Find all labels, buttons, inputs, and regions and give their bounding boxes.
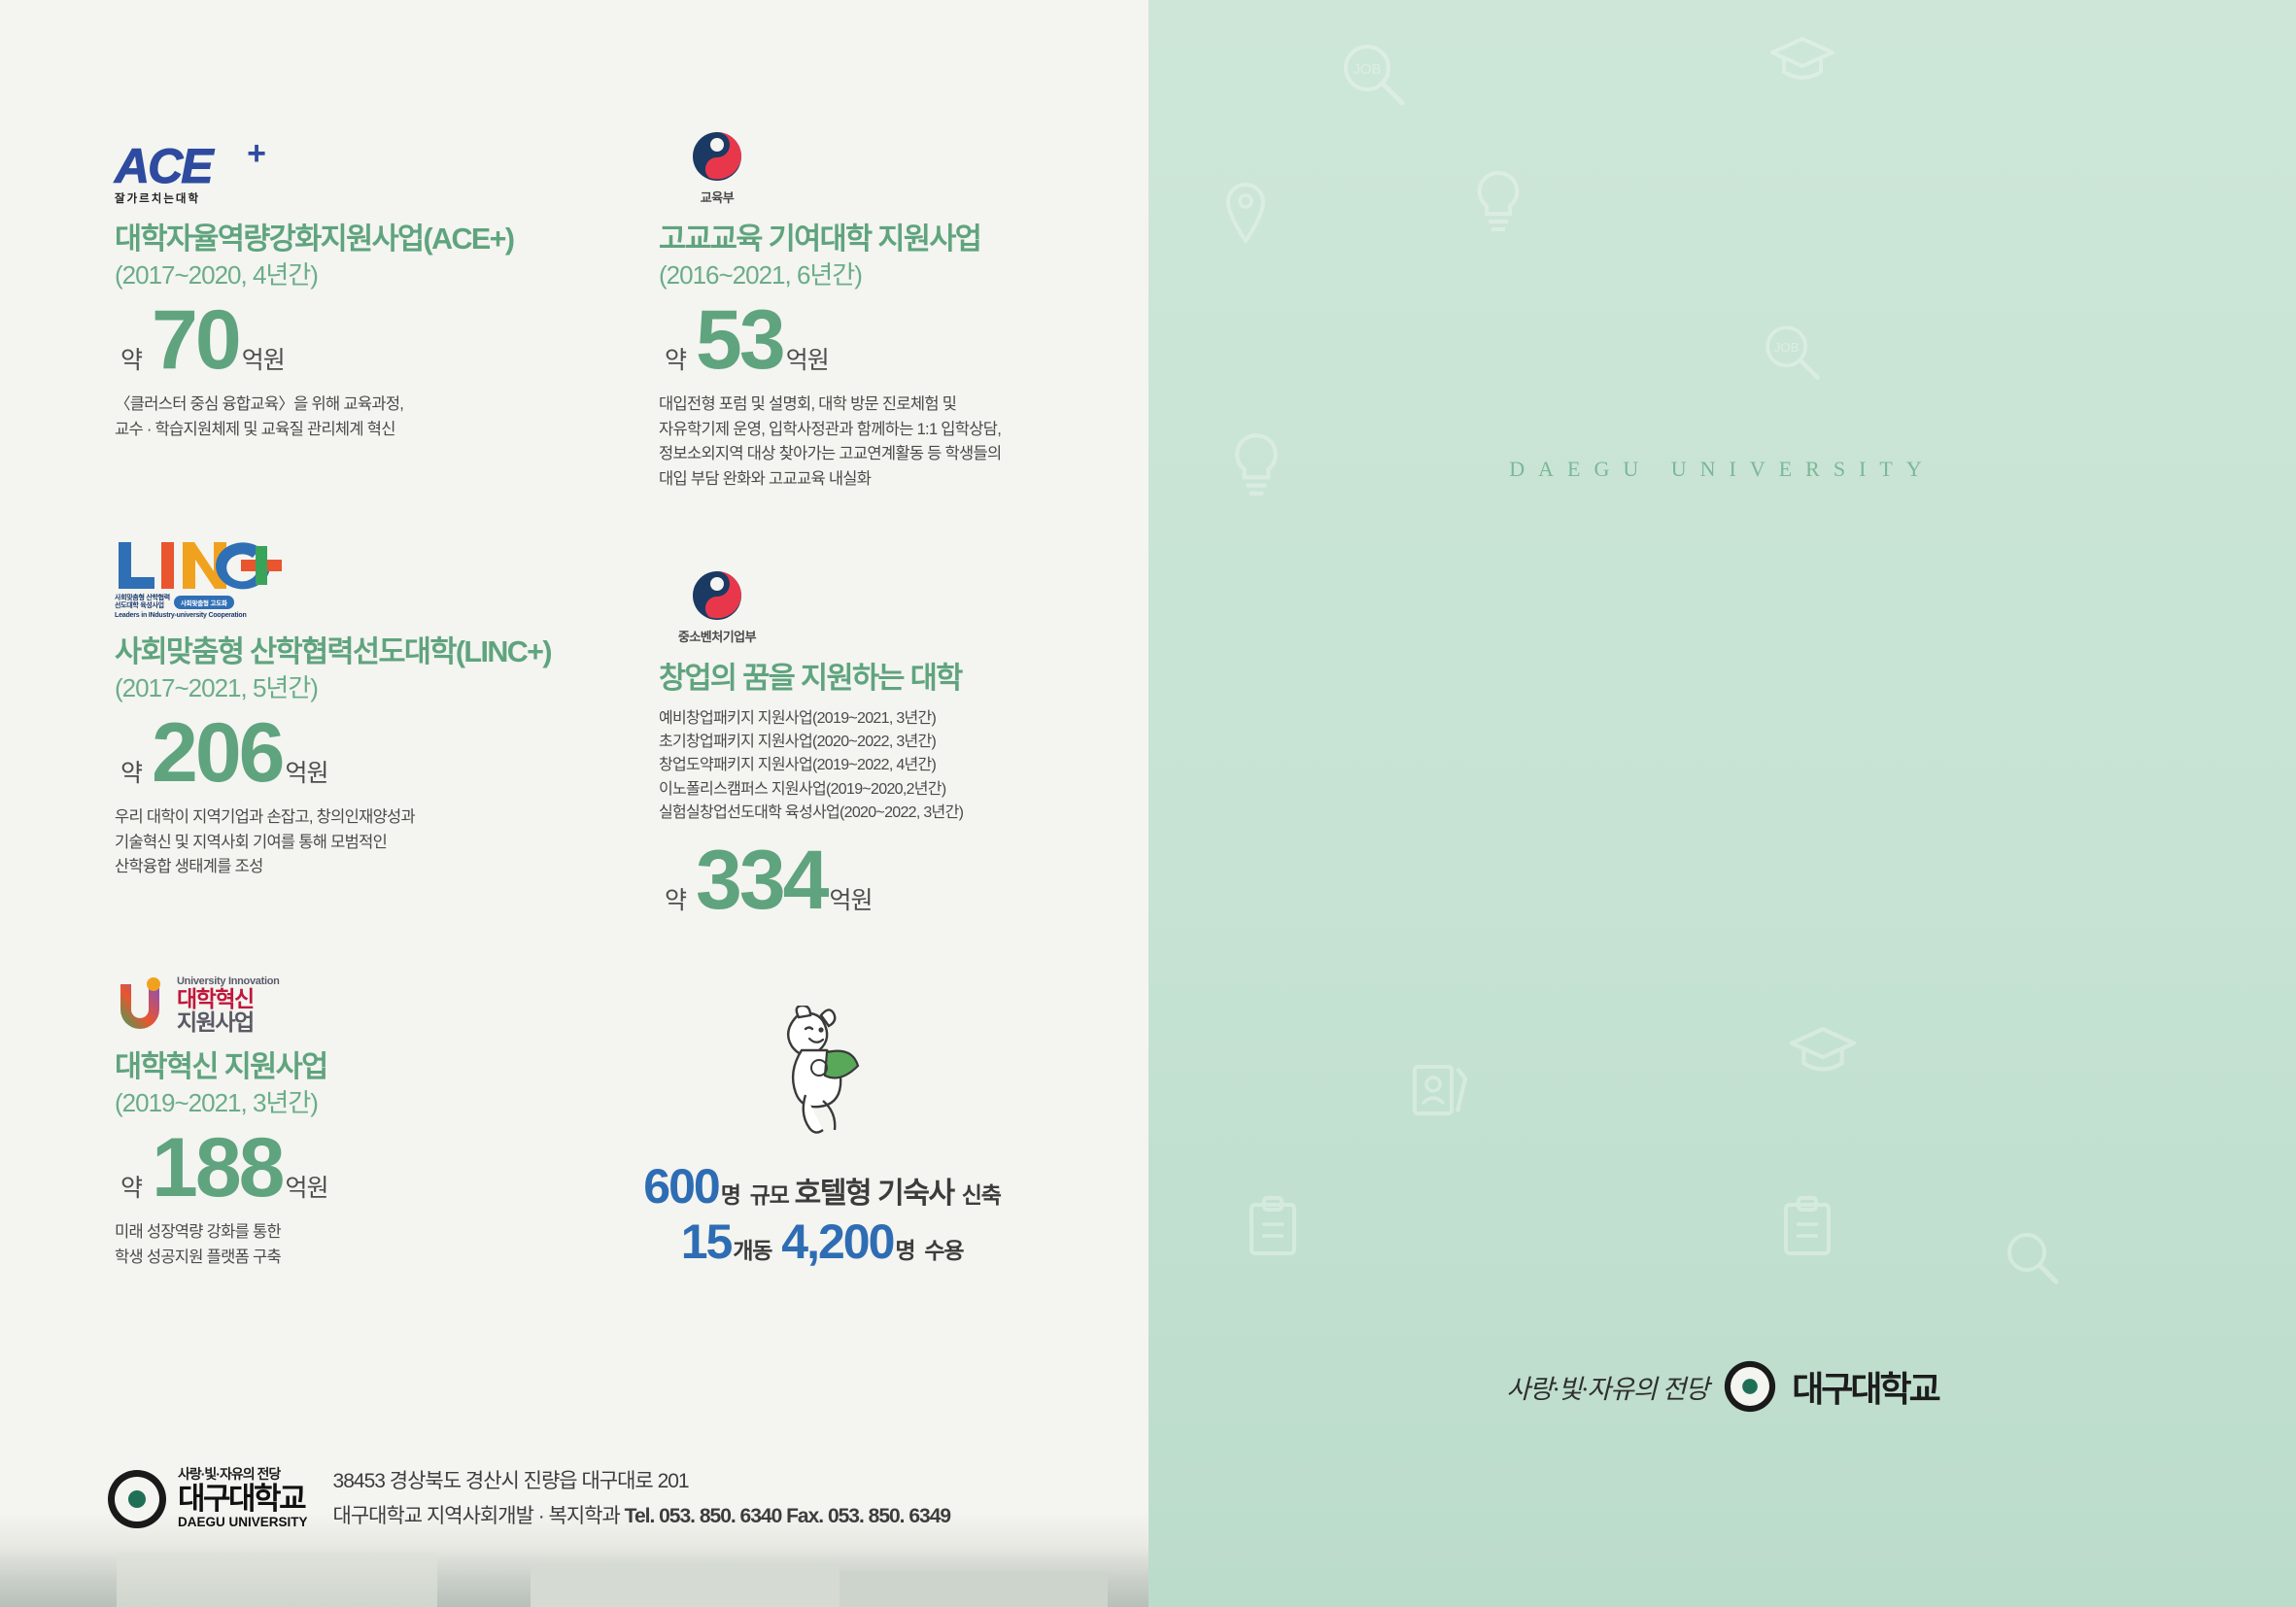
right-panel: JOB JOB DAEGU UNIVERS <box>1148 0 2296 1607</box>
amount-number: 53 <box>696 302 783 379</box>
list-item: 실험실창업선도대학 육성사업(2020~2022, 3년간) <box>659 802 1067 825</box>
amount-prefix: 약 <box>120 341 142 376</box>
dorm-line-2: 15 개동 4,200 명 수용 <box>589 1215 1055 1269</box>
logo-slot: University Innovation 대학혁신 지원사업 <box>115 950 542 1034</box>
left-content: ACE + 잘가르치는대학 대학자율역량강화지원사업(ACE+) (2017~2… <box>0 0 1148 1607</box>
amount-unit: 억원 <box>286 1169 328 1204</box>
university-innovation-mark-icon <box>115 976 169 1033</box>
graduation-cap-icon <box>1770 35 1834 87</box>
amount-number: 70 <box>152 302 239 379</box>
program-description: 〈클러스터 중심 융합교육〉을 위해 교육과정, 교수 · 학습지원체제 및 교… <box>115 393 542 442</box>
amount-number: 206 <box>152 715 283 792</box>
amount-prefix: 약 <box>120 754 142 789</box>
description-line: 미래 성장역량 강화를 통한 <box>115 1220 542 1246</box>
linc-plus-logo: 사회맞춤형 산학협력 선도대학 육성사업 사회맞춤형 고도화 Leaders i… <box>115 540 285 619</box>
gov-emblem-mss: 중소벤처기업부 <box>659 569 775 645</box>
university-innovation-logo: University Innovation 대학혁신 지원사업 <box>115 976 319 1034</box>
dorm-build-label: 신축 <box>962 1177 1001 1210</box>
job-search-icon: JOB <box>1338 39 1408 109</box>
amount-unit: 억원 <box>786 341 829 376</box>
university-name-en: DAEGU UNIVERSITY <box>178 1514 308 1531</box>
university-eyebrow: DAEGU UNIVERSITY <box>1148 457 2296 482</box>
ui-kr-line2: 지원사업 <box>177 1010 280 1034</box>
program-years: (2019~2021, 3년간) <box>115 1087 542 1120</box>
program-block-university-innovation: University Innovation 대학혁신 지원사업 대학혁신 지원사… <box>115 950 542 1270</box>
program-amount: 약 188 억원 <box>120 1130 542 1207</box>
contact-info: 38453 경상북도 경산시 진량읍 대구대로 201 대구대학교 지역사회개발… <box>333 1464 951 1536</box>
clipboard-icon <box>1246 1195 1300 1259</box>
ace-subtitle: 잘가르치는대학 <box>115 190 262 206</box>
dorm-type-label: 호텔형 기숙사 <box>795 1169 954 1212</box>
logo-slot: 교육부 <box>659 122 1067 206</box>
department-contact-line: 대구대학교 지역사회개발 · 복지학과 Tel. 053. 850. 6340 … <box>333 1499 951 1535</box>
program-description: 대입전형 포럼 및 설명회, 대학 방문 진로체험 및 자유학기제 운영, 입학… <box>659 393 1067 492</box>
program-title: 대학혁신 지원사업 <box>115 1049 542 1085</box>
linc-subtitle: 사회맞춤형 산학협력 선도대학 육성사업 사회맞춤형 고도화 Leaders i… <box>115 595 285 619</box>
program-years: (2016~2021, 6년간) <box>659 259 1067 292</box>
amount-unit: 억원 <box>286 754 328 789</box>
lightbulb-icon <box>1469 165 1527 237</box>
linc-letters-icon <box>115 540 282 591</box>
dorm-total-capacity: 4,200 <box>781 1215 893 1269</box>
program-amount: 약 334 억원 <box>665 842 1067 919</box>
program-subprogram-list: 예비창업패키지 지원사업(2019~2021, 3년간) 초기창업패키지 지원사… <box>659 707 1067 826</box>
description-line: 교수 · 학습지원체제 및 교육질 관리체계 혁신 <box>115 418 542 443</box>
clipboard-icon <box>1780 1195 1834 1259</box>
ace-plus-logo: ACE + 잘가르치는대학 <box>115 145 262 206</box>
address-line: 38453 경상북도 경산시 진량읍 대구대로 201 <box>333 1464 951 1500</box>
dorm-accommodate-label: 수용 <box>924 1232 963 1265</box>
ace-wordmark: ACE <box>115 145 262 188</box>
program-title: 대학자율역량강화지원사업(ACE+) <box>115 222 542 257</box>
list-item: 예비창업패키지 지원사업(2019~2021, 3년간) <box>659 707 1067 731</box>
search-icon <box>2004 1229 2060 1285</box>
dorm-total-unit: 명 <box>895 1232 914 1265</box>
program-years: (2017~2021, 5년간) <box>115 672 542 705</box>
amount-unit: 억원 <box>830 881 873 916</box>
amount-prefix: 약 <box>665 881 686 916</box>
svg-text:JOB: JOB <box>1353 61 1381 78</box>
linc-kr-line2: 선도대학 육성사업 <box>115 602 170 610</box>
university-seal-icon <box>1724 1360 1776 1413</box>
logo-slot: 사회맞춤형 산학협력 선도대학 육성사업 사회맞춤형 고도화 Leaders i… <box>115 535 542 619</box>
program-title: 창업의 꿈을 지원하는 대학 <box>659 661 1067 697</box>
job-search-icon: JOB <box>1761 321 1823 383</box>
program-amount: 약 70 억원 <box>120 302 542 379</box>
list-item: 초기창업패키지 지원사업(2020~2022, 3년간) <box>659 731 1067 754</box>
linc-kr-line1: 사회맞춤형 산학협력 <box>115 595 170 602</box>
program-column-left: ACE + 잘가르치는대학 대학자율역량강화지원사업(ACE+) (2017~2… <box>115 122 542 1278</box>
svg-text:JOB: JOB <box>1774 340 1799 355</box>
tiger-mascot-flying-icon <box>759 1006 885 1156</box>
program-block-ace: ACE + 잘가르치는대학 대학자율역량강화지원사업(ACE+) (2017~2… <box>115 122 542 442</box>
taegeuk-emblem-icon <box>691 130 743 183</box>
brochure-page: ACE + 잘가르치는대학 대학자율역량강화지원사업(ACE+) (2017~2… <box>0 0 2296 1607</box>
graduation-cap-icon <box>1790 1025 1856 1079</box>
program-block-moe: 교육부 고교교육 기여대학 지원사업 (2016~2021, 6년간) 약 53… <box>659 122 1067 492</box>
amount-number: 188 <box>152 1130 283 1207</box>
dorm-scale-label: 규모 <box>750 1177 789 1210</box>
description-line: 자유학기제 운영, 입학사정관과 함께하는 1:1 입학상담, <box>659 418 1067 443</box>
university-seal-icon <box>107 1469 167 1529</box>
linc-en-subtitle: Leaders in INdustry-university Cooperati… <box>115 612 285 619</box>
program-description: 미래 성장역량 강화를 통한 학생 성공지원 플랫폼 구축 <box>115 1220 542 1270</box>
university-name-kr: 대구대학교 <box>178 1484 308 1514</box>
department-name: 대구대학교 지역사회개발 · 복지학과 <box>333 1505 625 1527</box>
university-slogan: 사랑·빛·자유의 전당 <box>1506 1368 1708 1406</box>
university-innovation-text: University Innovation 대학혁신 지원사업 <box>177 976 280 1034</box>
dormitory-stats: 600 명 규모 호텔형 기숙사 신축 15 개동 4,200 명 수용 <box>589 1006 1055 1269</box>
university-name-kr: 대구대학교 <box>1792 1361 1938 1412</box>
description-line: 학생 성공지원 플랫폼 구축 <box>115 1246 542 1271</box>
list-item: 창업도약패키지 지원사업(2019~2022, 4년간) <box>659 754 1067 777</box>
description-line: 산학융합 생태계를 조성 <box>115 855 542 880</box>
amount-prefix: 약 <box>120 1169 142 1204</box>
description-line: 대입 부담 완화와 고교교육 내실화 <box>659 467 1067 493</box>
program-amount: 약 53 억원 <box>665 302 1067 379</box>
left-footer: 사랑·빛·자유의 전당 대구대학교 DAEGU UNIVERSITY 38453… <box>107 1464 950 1536</box>
taegeuk-emblem-icon <box>691 569 743 622</box>
description-line: 우리 대학이 지역기업과 손잡고, 창의인재양성과 <box>115 805 542 831</box>
person-pin-icon <box>1224 183 1267 243</box>
program-block-linc: 사회맞춤형 산학협력 선도대학 육성사업 사회맞춤형 고도화 Leaders i… <box>115 535 542 880</box>
daegu-university-logo: 사랑·빛·자유의 전당 대구대학교 DAEGU UNIVERSITY <box>107 1467 308 1531</box>
phone-fax: Tel. 053. 850. 6340 Fax. 053. 850. 6349 <box>625 1505 950 1527</box>
description-line: 정보소외지역 대상 찾아가는 고교연계활동 등 학생들의 <box>659 442 1067 467</box>
gov-emblem-name: 중소벤처기업부 <box>659 627 775 645</box>
description-line: 〈클러스터 중심 융합교육〉을 위해 교육과정, <box>115 393 542 418</box>
amount-number: 334 <box>696 842 827 919</box>
program-years: (2017~2020, 4년간) <box>115 259 542 292</box>
ace-plus-icon: + <box>247 137 266 170</box>
gov-emblem-name: 교육부 <box>659 188 775 206</box>
right-footer: 사랑·빛·자유의 전당 대구대학교 <box>1148 1360 2296 1413</box>
dorm-building-unit: 개동 <box>733 1232 771 1265</box>
logo-slot: 중소벤처기업부 <box>659 562 1067 645</box>
description-line: 기술혁신 및 지역사회 기여를 통해 모범적인 <box>115 831 542 856</box>
university-slogan: 사랑·빛·자유의 전당 <box>178 1467 308 1481</box>
linc-wordmark <box>115 540 285 591</box>
program-column-right: 교육부 고교교육 기여대학 지원사업 (2016~2021, 6년간) 약 53… <box>659 122 1067 927</box>
program-title: 고교교육 기여대학 지원사업 <box>659 222 1067 257</box>
program-description: 우리 대학이 지역기업과 손잡고, 창의인재양성과 기술혁신 및 지역사회 기여… <box>115 805 542 880</box>
linc-pill-badge: 사회맞춤형 고도화 <box>174 596 234 609</box>
description-line: 대입전형 포럼 및 설명회, 대학 방문 진로체험 및 <box>659 393 1067 418</box>
program-amount: 약 206 억원 <box>120 715 542 792</box>
dorm-line-1: 600 명 규모 호텔형 기숙사 신축 <box>589 1160 1055 1214</box>
amount-prefix: 약 <box>665 341 686 376</box>
dorm-capacity-unit: 명 <box>721 1177 740 1210</box>
id-badge-icon <box>1411 1059 1469 1119</box>
dorm-building-count: 15 <box>681 1215 732 1269</box>
daegu-university-wordmark: 사랑·빛·자유의 전당 대구대학교 DAEGU UNIVERSITY <box>178 1467 308 1531</box>
left-panel: ACE + 잘가르치는대학 대학자율역량강화지원사업(ACE+) (2017~2… <box>0 0 1148 1607</box>
logo-slot: ACE + 잘가르치는대학 <box>115 122 542 206</box>
list-item: 이노폴리스캠퍼스 지원사업(2019~2020,2년간) <box>659 778 1067 802</box>
amount-unit: 억원 <box>242 341 285 376</box>
dorm-capacity-number: 600 <box>643 1160 718 1214</box>
gov-emblem-moe: 교육부 <box>659 130 775 206</box>
ui-kr-line1: 대학혁신 <box>177 987 280 1010</box>
program-title: 사회맞춤형 산학협력선도대학(LINC+) <box>115 634 542 670</box>
program-block-mss: 중소벤처기업부 창업의 꿈을 지원하는 대학 예비창업패키지 지원사업(2019… <box>659 562 1067 919</box>
